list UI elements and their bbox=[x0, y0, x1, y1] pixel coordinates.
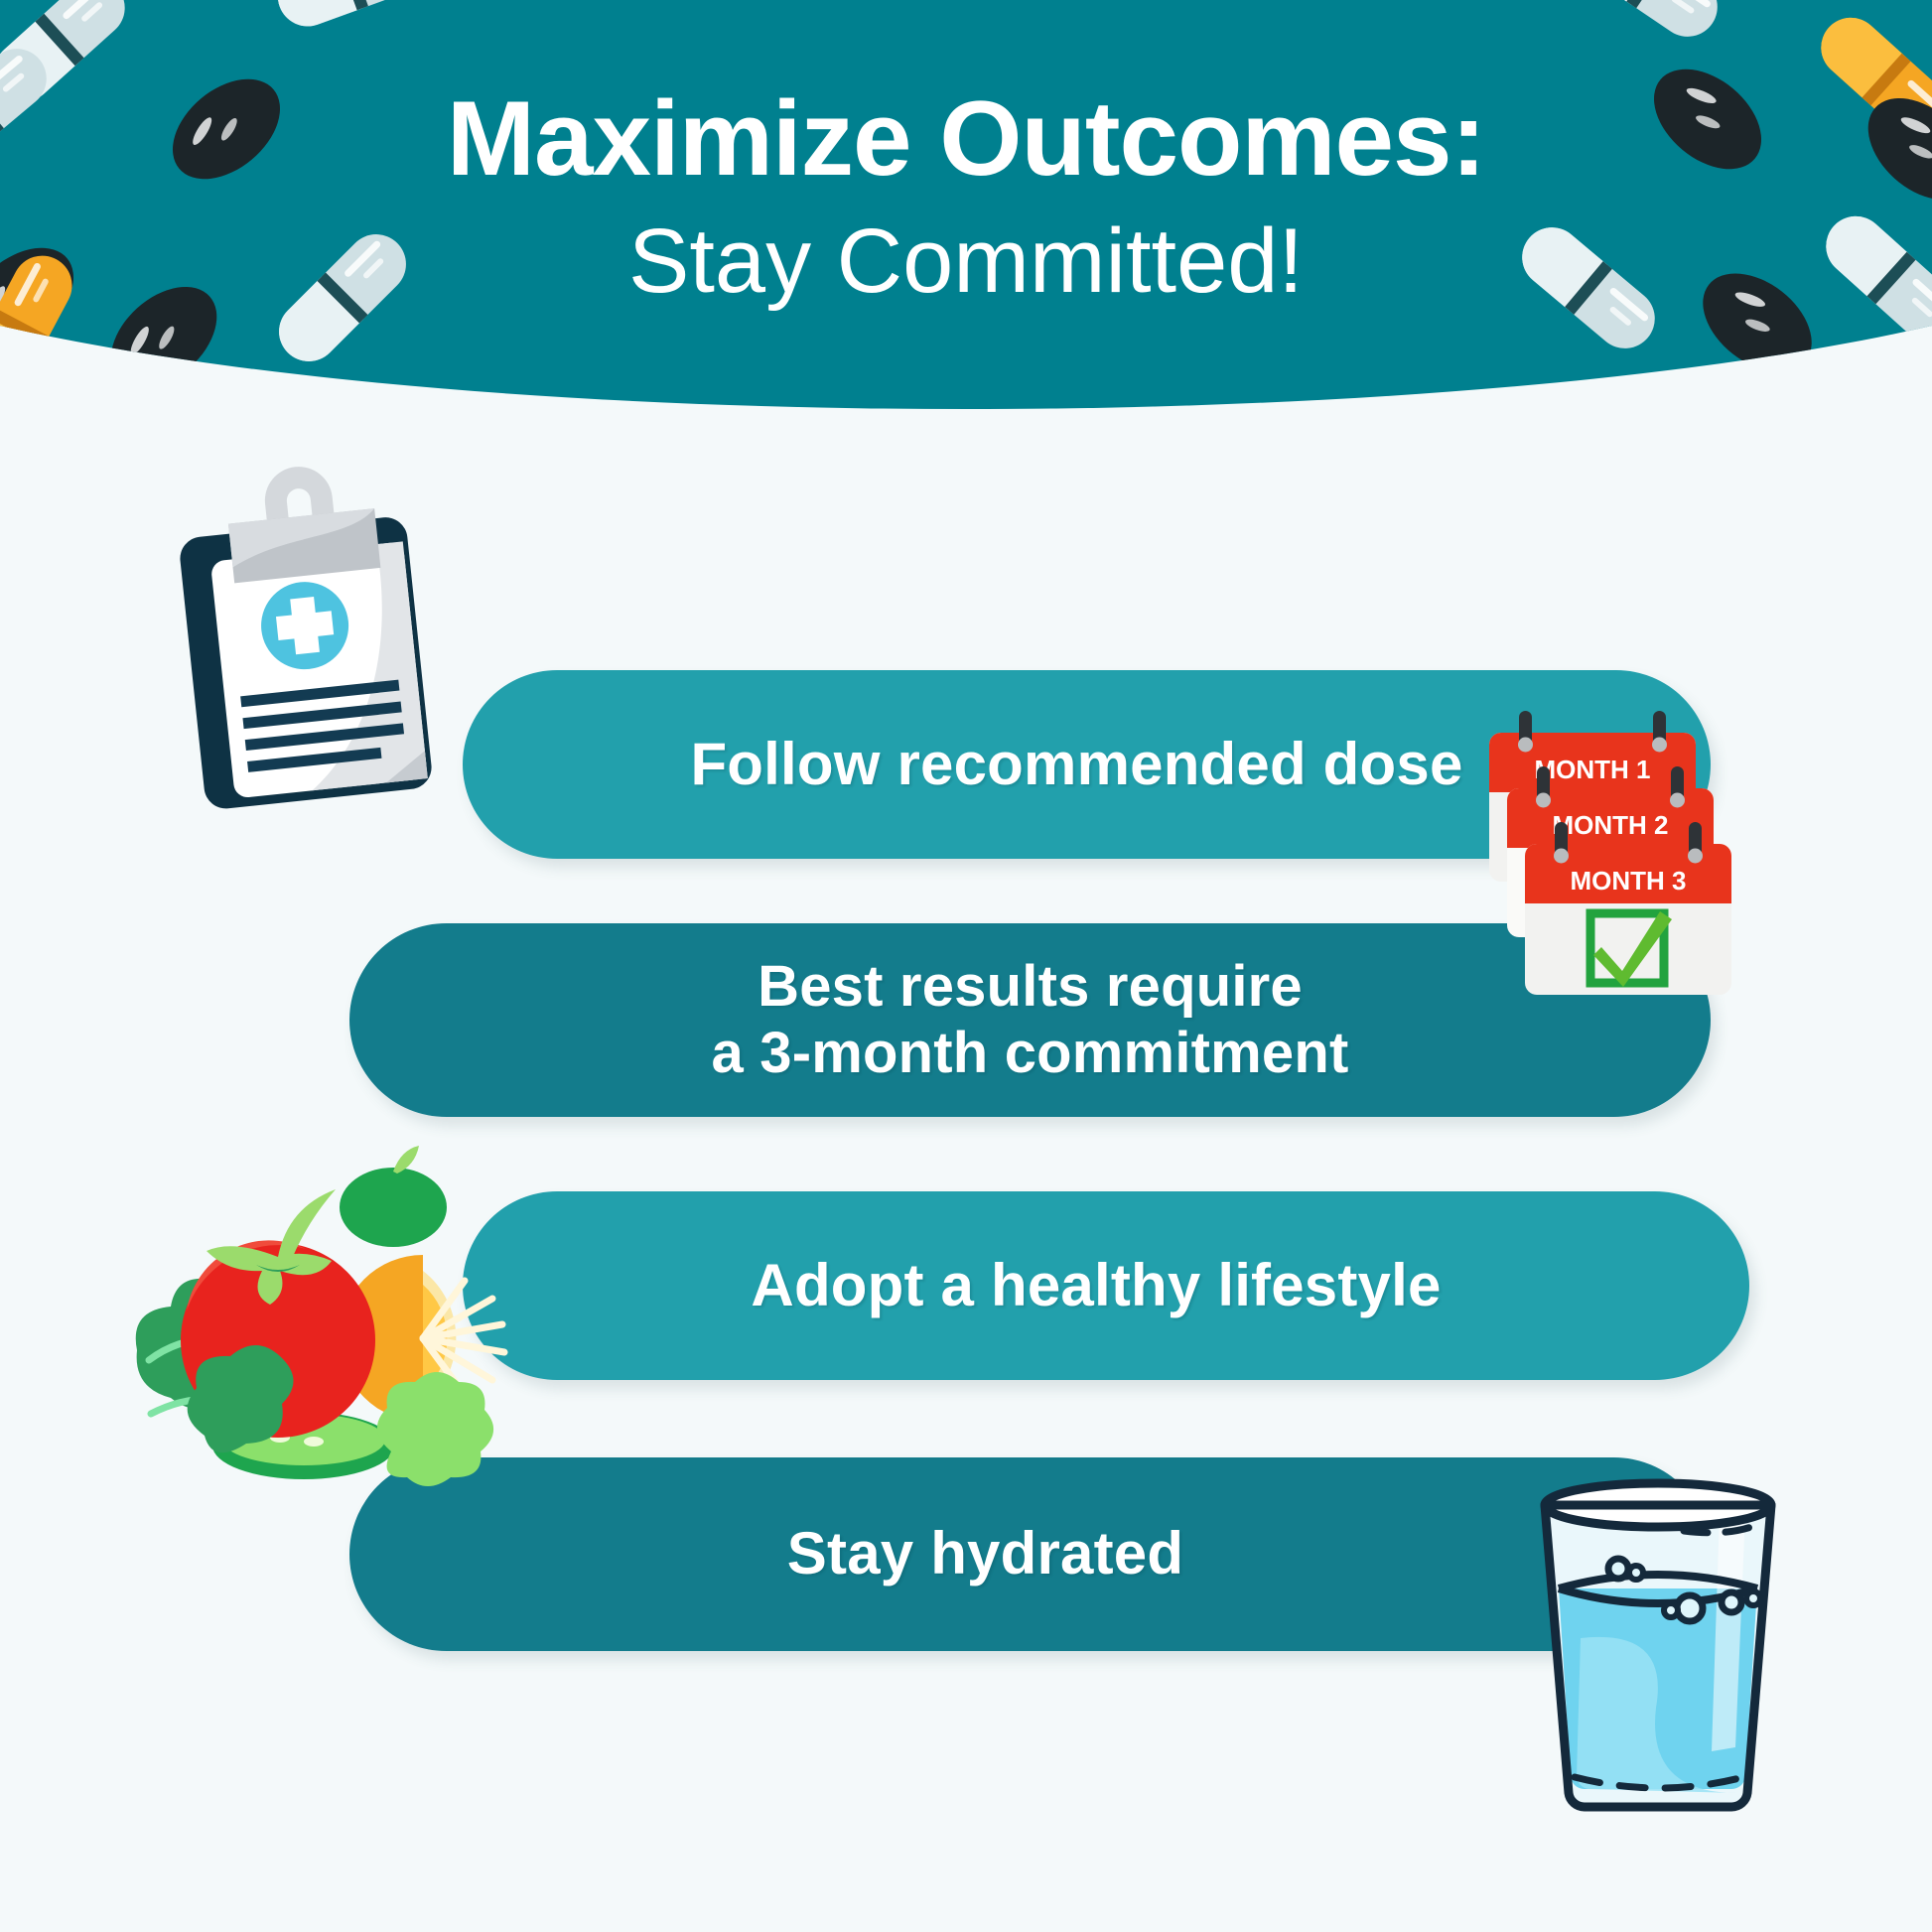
vegetables-fruit-icon bbox=[129, 1162, 486, 1509]
page-title: Maximize Outcomes: bbox=[447, 85, 1485, 192]
header-band: Maximize Outcomes: Stay Committed! bbox=[0, 0, 1932, 437]
calendar-sheet-month-3: MONTH 3 bbox=[1525, 822, 1731, 995]
header-text-block: Maximize Outcomes: Stay Committed! bbox=[0, 0, 1932, 437]
bar-stay-hydrated[interactable]: Stay hydrated bbox=[349, 1457, 1711, 1651]
svg-text:MONTH 3: MONTH 3 bbox=[1571, 866, 1687, 896]
bar-label-healthy-lifestyle: Adopt a healthy lifestyle bbox=[463, 1252, 1749, 1319]
bar-label-stay-hydrated: Stay hydrated bbox=[349, 1520, 1711, 1587]
calendar-stack-icon: MONTH 1 MONTH 2 bbox=[1483, 705, 1811, 1033]
page-subtitle: Stay Committed! bbox=[628, 215, 1304, 307]
svg-text:MONTH 1: MONTH 1 bbox=[1535, 755, 1651, 784]
svg-text:MONTH 2: MONTH 2 bbox=[1553, 810, 1669, 840]
water-glass-icon bbox=[1509, 1469, 1807, 1817]
bar-healthy-lifestyle[interactable]: Adopt a healthy lifestyle bbox=[463, 1191, 1749, 1380]
clipboard-icon bbox=[149, 475, 467, 812]
content-rows: Follow recommended dose bbox=[0, 437, 1932, 1932]
